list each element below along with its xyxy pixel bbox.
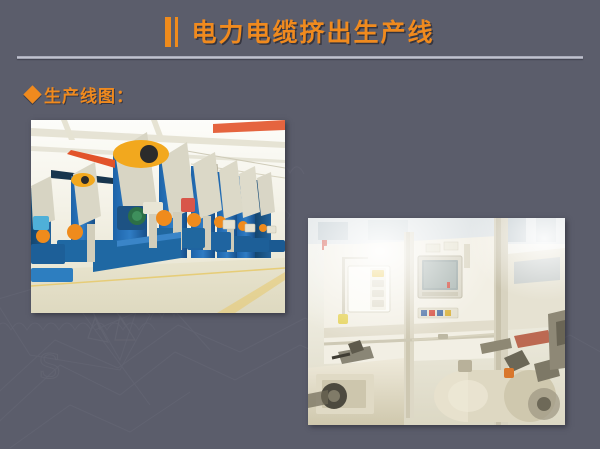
page-title: 电力电缆挤出生产线 — [191, 20, 434, 45]
diamond-bullet-icon — [23, 85, 41, 103]
slide-title-row: 电力电缆挤出生产线 — [0, 12, 600, 52]
title-accent-bar-thin — [175, 17, 178, 47]
svg-text:S: S — [38, 347, 61, 387]
photo-production-line — [31, 120, 285, 313]
title-divider — [17, 56, 583, 59]
title-accent-bar-thick — [165, 17, 171, 47]
section-heading: 生产线图： — [26, 82, 134, 107]
production-line-image — [31, 120, 285, 313]
control-equipment-image — [308, 218, 565, 425]
photo-control-equipment — [308, 218, 565, 425]
section-heading-label: 生产线图： — [44, 82, 134, 107]
slide: S 电力电缆挤出生产线 生产线图： — [0, 0, 600, 449]
